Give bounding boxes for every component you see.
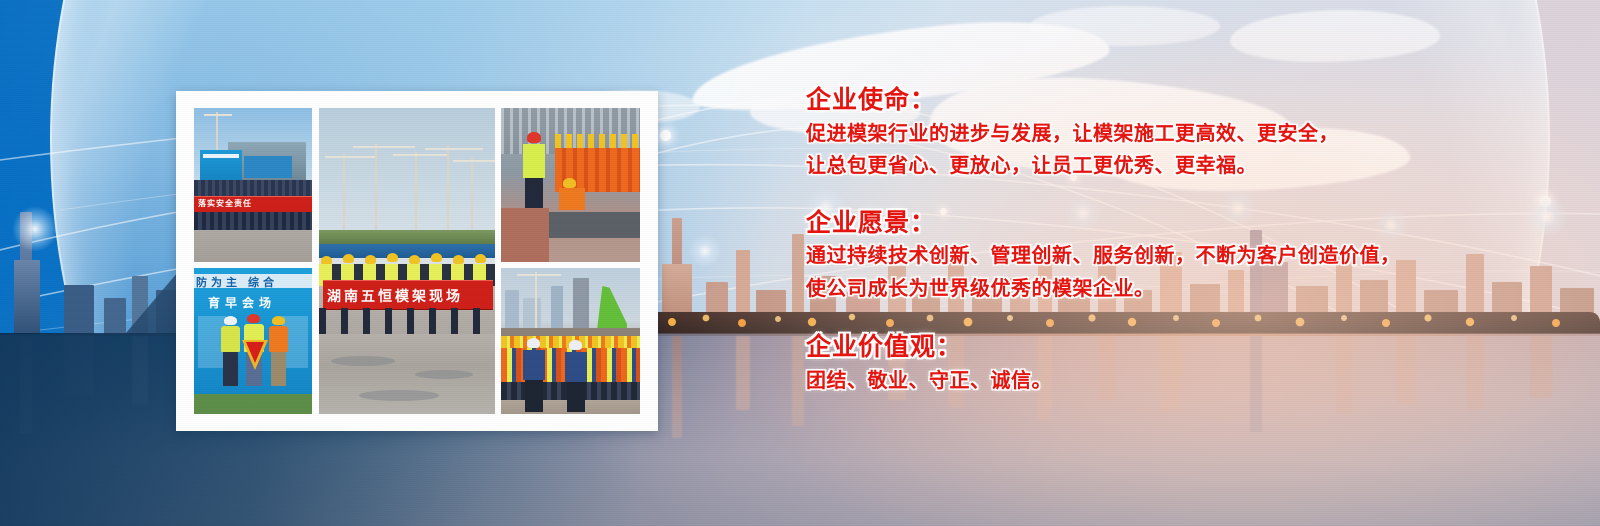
- corporate-culture-banner: 落实安全责任 防为主 综合 育早会场: [0, 0, 1600, 526]
- mission-line-2: 让总包更省心、更放心，让员工更优秀、更幸福。: [806, 150, 1446, 182]
- photo-center: 湖南五恒模架现场: [319, 108, 495, 414]
- values-line-1: 团结、敬业、守正、诚信。: [806, 365, 1446, 397]
- photo-top-right: [501, 108, 640, 262]
- block-mission: 企业使命： 促进模架行业的进步与发展，让模架施工更高效、更安全， 让总包更省心、…: [806, 84, 1446, 183]
- mission-heading: 企业使命：: [806, 84, 1446, 118]
- photo-bottom-left: 防为主 综合 育早会场: [194, 268, 312, 414]
- block-vision: 企业愿景： 通过持续技术创新、管理创新、服务创新，不断为客户创造价值， 使公司成…: [806, 207, 1446, 306]
- photo-top-left: 落实安全责任: [194, 108, 312, 262]
- vision-heading: 企业愿景：: [806, 207, 1446, 241]
- photo-bottom-right: [501, 268, 640, 414]
- vision-line-1: 通过持续技术创新、管理创新、服务创新，不断为客户创造价值，: [806, 240, 1446, 272]
- photo-collage-frame: 落实安全责任 防为主 综合 育早会场: [176, 91, 658, 431]
- spacer: [806, 305, 1446, 331]
- block-values: 企业价值观： 团结、敬业、守正、诚信。: [806, 331, 1446, 397]
- culture-text-column: 企业使命： 促进模架行业的进步与发展，让模架施工更高效、更安全， 让总包更省心、…: [806, 84, 1446, 397]
- values-heading: 企业价值观：: [806, 331, 1446, 365]
- spacer: [806, 183, 1446, 207]
- vision-line-2: 使公司成长为世界级优秀的模架企业。: [806, 273, 1446, 305]
- mission-line-1: 促进模架行业的进步与发展，让模架施工更高效、更安全，: [806, 118, 1446, 150]
